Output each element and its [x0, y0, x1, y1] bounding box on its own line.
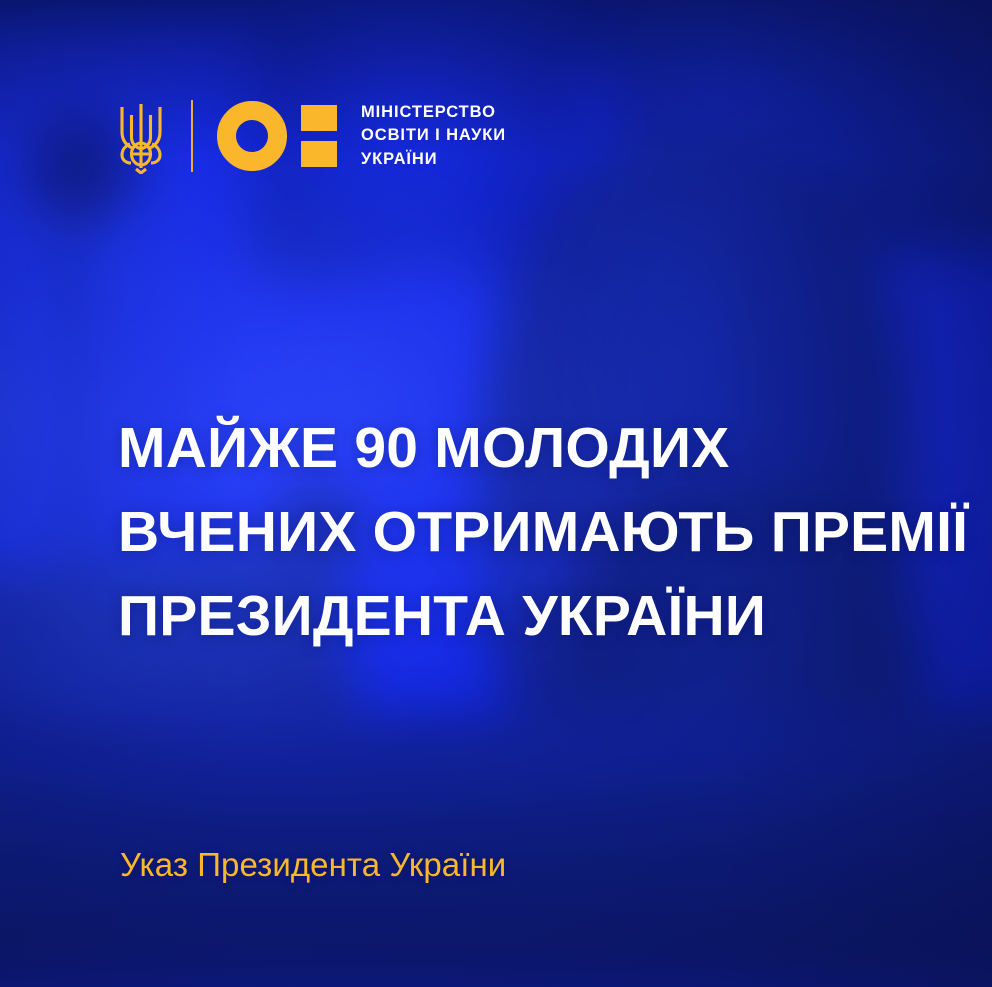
ministry-name-line-2: ОСВІТИ І НАУКИ	[361, 124, 506, 147]
mark-equals-icon	[301, 105, 337, 167]
mark-square-top	[301, 105, 337, 131]
ministry-name-line-1: МІНІСТЕРСТВО	[361, 101, 506, 124]
ministry-name-line-3: УКРАЇНИ	[361, 148, 506, 171]
mon-o-equals-mark-icon	[217, 101, 337, 171]
mark-ring-icon	[217, 101, 287, 171]
page-title: МАЙЖЕ 90 МОЛОДИХ ВЧЕНИХ ОТРИМАЮТЬ ПРЕМІЇ…	[118, 406, 928, 658]
headline-line-3: ПРЕЗИДЕНТА УКРАЇНИ	[118, 574, 928, 658]
headline-line-2: ВЧЕНИХ ОТРИМАЮТЬ ПРЕМІЇ	[118, 490, 928, 574]
vertical-divider-icon	[191, 100, 193, 172]
source-caption: Указ Президента України	[120, 846, 506, 884]
poster-content: МІНІСТЕРСТВО ОСВІТИ І НАУКИ УКРАЇНИ МАЙЖ…	[0, 0, 992, 987]
ukraine-trident-icon	[113, 98, 169, 174]
social-media-poster: МІНІСТЕРСТВО ОСВІТИ І НАУКИ УКРАЇНИ МАЙЖ…	[0, 0, 992, 987]
mark-square-bottom	[301, 141, 337, 167]
ministry-name: МІНІСТЕРСТВО ОСВІТИ І НАУКИ УКРАЇНИ	[361, 101, 506, 171]
headline-line-1: МАЙЖЕ 90 МОЛОДИХ	[118, 406, 928, 490]
ministry-logo-lockup: МІНІСТЕРСТВО ОСВІТИ І НАУКИ УКРАЇНИ	[113, 96, 506, 176]
